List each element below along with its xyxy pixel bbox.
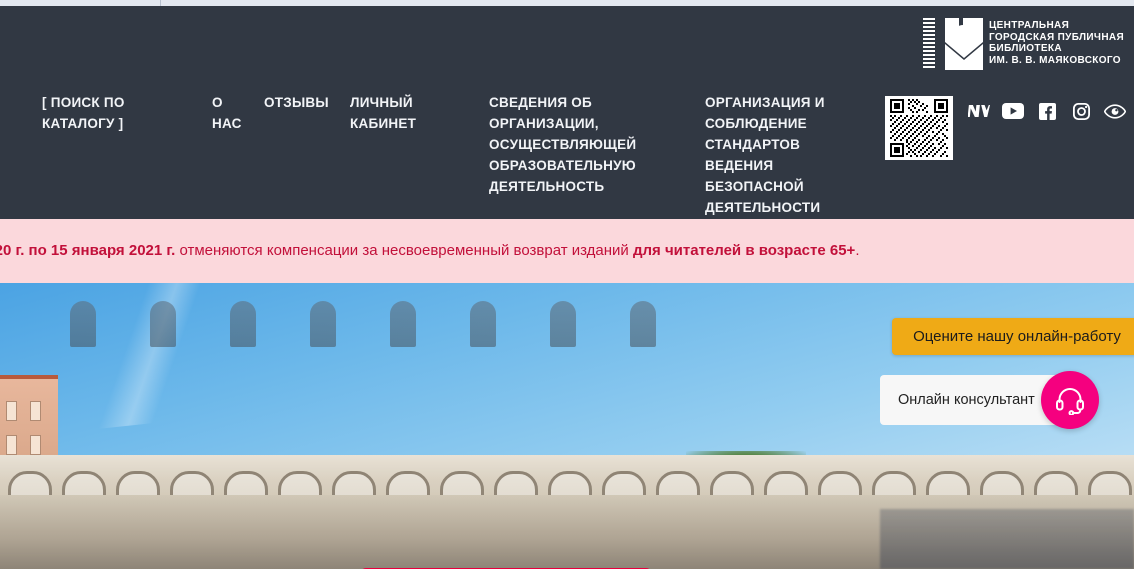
nav-item-catalog-search[interactable]: [ ПОИСК ПО КАТАЛОГУ ] <box>42 92 192 134</box>
online-consultant-widget[interactable]: Онлайн консультант <box>880 375 1099 425</box>
page-root: ЦЕНТРАЛЬНАЯ ГОРОДСКАЯ ПУБЛИЧНАЯ БИБЛИОТЕ… <box>0 0 1134 569</box>
nav-item-about[interactable]: О НАС <box>212 92 256 134</box>
nav-item-safety-standards[interactable]: ОРГАНИЗАЦИЯ И СОБЛЮДЕНИЕ СТАНДАРТОВ ВЕДЕ… <box>705 92 870 218</box>
library-m-logo-icon <box>921 14 983 72</box>
site-header: ЦЕНТРАЛЬНАЯ ГОРОДСКАЯ ПУБЛИЧНАЯ БИБЛИОТЕ… <box>0 6 1134 219</box>
instagram-icon[interactable] <box>1064 98 1098 124</box>
qr-code[interactable] <box>885 96 953 160</box>
announcement-text: ноября 2020 г. по 15 января 2021 г. отме… <box>0 241 859 261</box>
announcement-date-range: ноября 2020 г. по 15 января 2021 г. <box>0 242 175 259</box>
logo-stripes <box>923 18 935 70</box>
logo-m-mark <box>945 18 983 70</box>
qr-code-image <box>888 99 950 157</box>
facebook-icon[interactable] <box>1030 98 1064 124</box>
nav-item-account[interactable]: ЛИЧНЫЙ КАБИНЕТ <box>350 92 460 134</box>
nav-item-reviews[interactable]: ОТЗЫВЫ <box>264 92 344 113</box>
nav-item-education-info[interactable]: СВЕДЕНИЯ ОБ ОРГАНИЗАЦИИ, ОСУЩЕСТВЛЯЮЩЕЙ … <box>489 92 689 197</box>
rate-online-work-button[interactable]: Оцените нашу онлайн-работу <box>892 318 1134 355</box>
vk-icon[interactable] <box>962 98 996 124</box>
announcement-audience: для читателей в возрасте 65+ <box>633 242 855 259</box>
logo-text: ЦЕНТРАЛЬНАЯ ГОРОДСКАЯ ПУБЛИЧНАЯ БИБЛИОТЕ… <box>989 14 1124 66</box>
announcement-banner: ноября 2020 г. по 15 января 2021 г. отме… <box>0 219 1134 283</box>
headset-icon[interactable] <box>1041 371 1099 429</box>
youtube-icon[interactable] <box>996 98 1030 124</box>
announcement-body: отменяются компенсации за несвоевременны… <box>175 242 633 259</box>
social-links <box>962 98 1132 124</box>
eye-icon[interactable] <box>1098 98 1132 124</box>
site-logo[interactable]: ЦЕНТРАЛЬНАЯ ГОРОДСКАЯ ПУБЛИЧНАЯ БИБЛИОТЕ… <box>921 14 1124 72</box>
announcement-tail: . <box>855 242 859 259</box>
